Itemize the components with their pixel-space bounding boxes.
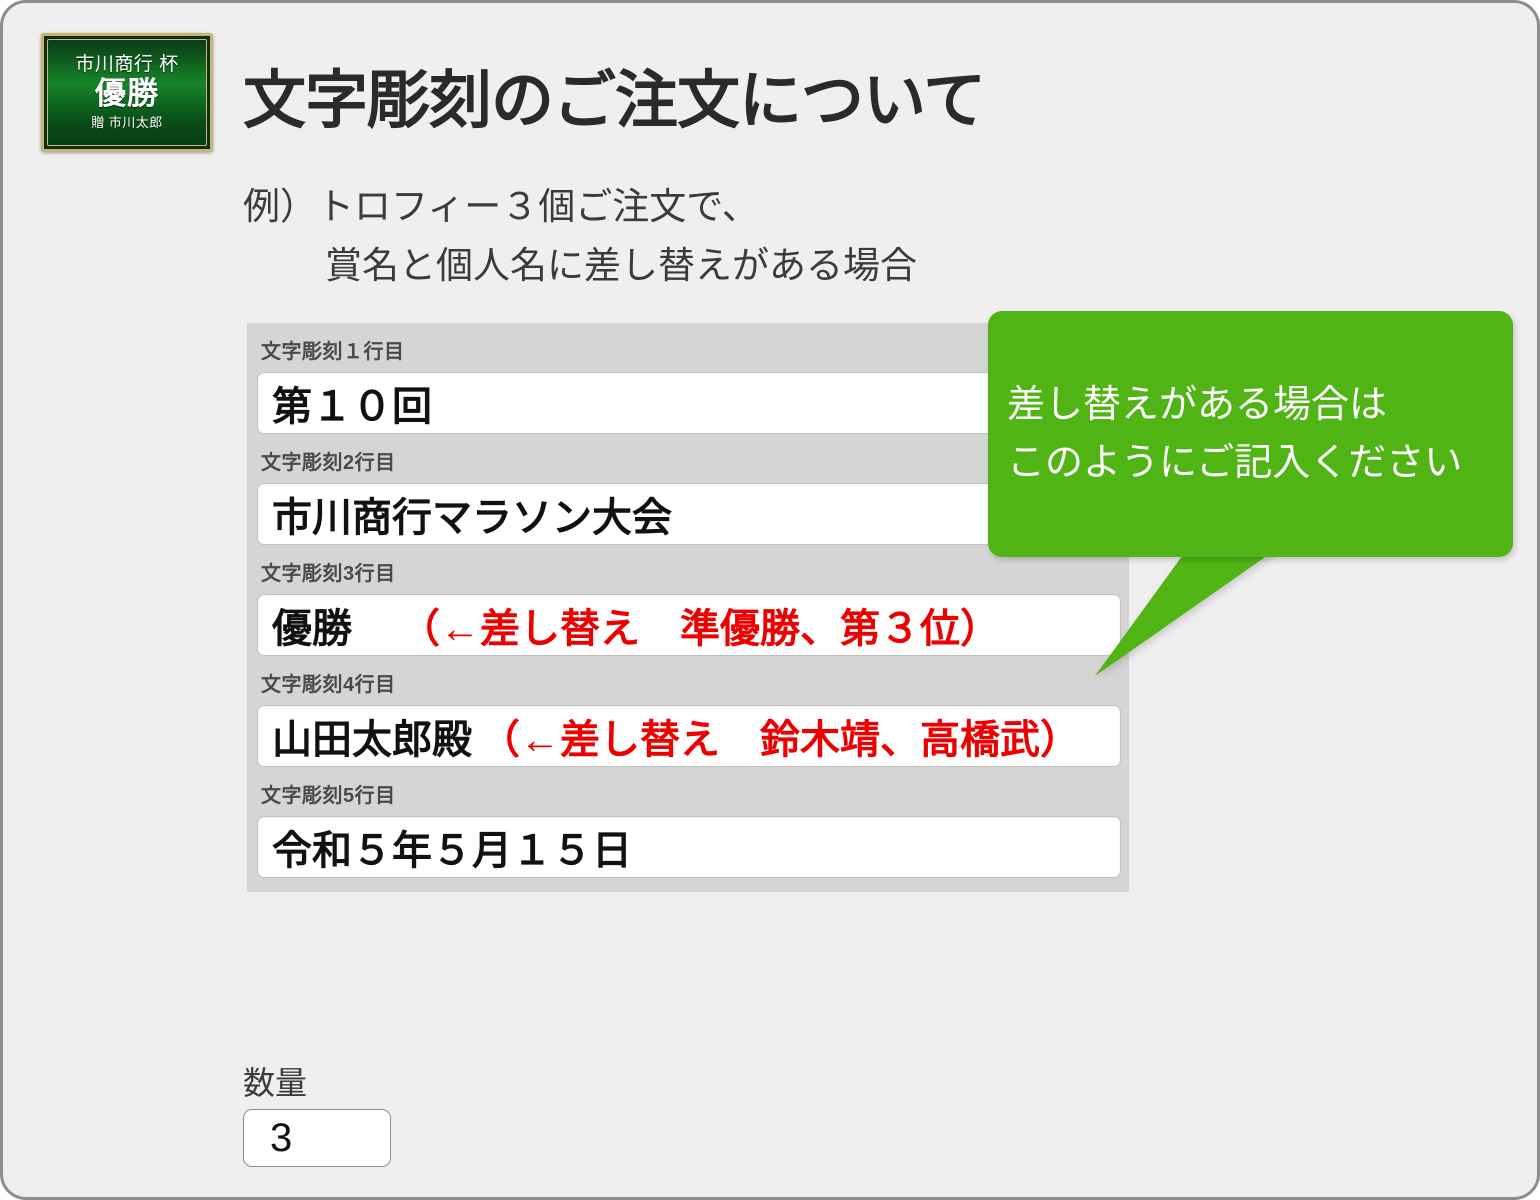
callout-tail-icon xyxy=(1088,548,1288,688)
quantity-input[interactable]: 3 xyxy=(243,1109,391,1167)
field-label-line5: 文字彫刻5行目 xyxy=(247,767,1129,816)
callout-text: 差し替えがある場合は このようにご記入ください xyxy=(988,311,1513,557)
callout-line-1: 差し替えがある場合は xyxy=(1007,376,1513,434)
field-label-line4: 文字彫刻4行目 xyxy=(247,656,1129,705)
quantity-section: 数量 3 xyxy=(243,1066,391,1167)
engraving-value-line5: 令和５年５月１５日 xyxy=(272,818,632,876)
page-container: 市川商行 杯 優勝 贈 市川太郎 文字彫刻のご注文について 例）トロフィー３個ご… xyxy=(0,0,1540,1200)
quantity-label: 数量 xyxy=(243,1066,391,1101)
engraving-note-line3: （←差し替え 準優勝、第３位） xyxy=(400,596,1000,654)
engraving-input-line4[interactable]: 山田太郎殿 （←差し替え 鈴木靖、高橋武） xyxy=(257,705,1121,767)
engraving-value-line1: 第１０回 xyxy=(272,374,432,432)
plate-line-3: 贈 市川太郎 xyxy=(91,116,163,130)
callout-bubble: 差し替えがある場合は このようにご記入ください xyxy=(988,311,1513,557)
plate-line-2: 優勝 xyxy=(95,77,159,111)
callout-line-2: このようにご記入ください xyxy=(1007,434,1513,492)
example-description: 例）トロフィー３個ご注文で、 賞名と個人名に差し替えがある場合 xyxy=(243,177,917,295)
engraving-value-line4: 山田太郎殿 xyxy=(272,707,472,765)
page-title: 文字彫刻のご注文について xyxy=(243,50,985,141)
engraving-input-line3[interactable]: 優勝 （←差し替え 準優勝、第３位） xyxy=(257,594,1121,656)
engraving-input-line5[interactable]: 令和５年５月１５日 xyxy=(257,816,1121,878)
example-line-1: 例）トロフィー３個ご注文で、 xyxy=(243,186,759,227)
plate-line-1: 市川商行 杯 xyxy=(75,55,178,75)
engraving-note-line4: （←差し替え 鈴木靖、高橋武） xyxy=(480,707,1080,765)
engraving-value-line2: 市川商行マラソン大会 xyxy=(272,485,672,543)
trophy-name-plate: 市川商行 杯 優勝 贈 市川太郎 xyxy=(41,33,213,152)
plate-inner: 市川商行 杯 優勝 贈 市川太郎 xyxy=(47,39,207,146)
quantity-value: 3 xyxy=(270,1116,292,1161)
engraving-value-line3: 優勝 xyxy=(272,596,352,654)
example-line-2: 賞名と個人名に差し替えがある場合 xyxy=(243,236,917,295)
